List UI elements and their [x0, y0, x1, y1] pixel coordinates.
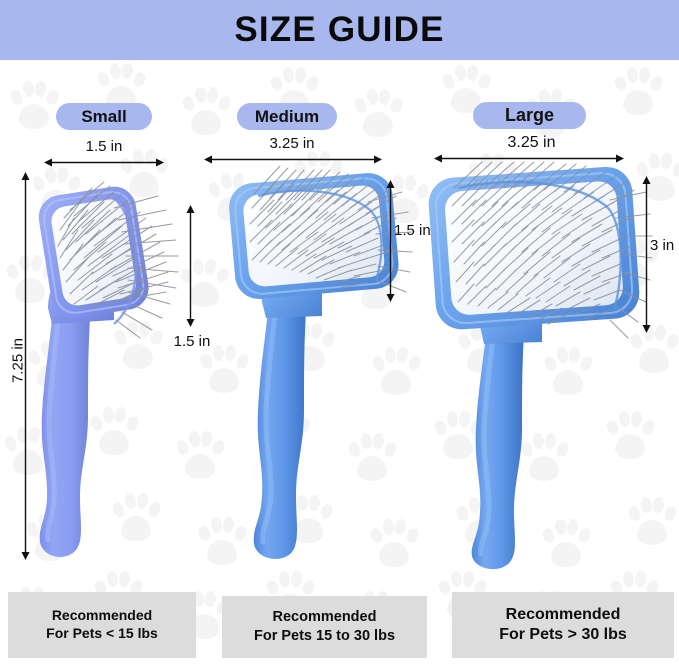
recommendation-box-medium: Recommended For Pets 15 to 30 lbs — [222, 596, 427, 658]
recommendation-line-1: Recommended — [273, 608, 377, 627]
width-label-small: 1.5 in — [48, 138, 160, 155]
recommendation-line-2: For Pets > 30 lbs — [499, 625, 627, 645]
head-height-label-small: 1.5 in — [160, 333, 224, 350]
recommendation-line-1: Recommended — [52, 607, 152, 625]
head-height-label-large: 3 in — [650, 237, 679, 254]
recommendation-line-2: For Pets 15 to 30 lbs — [254, 627, 395, 646]
recommendation-line-1: Recommended — [506, 605, 621, 625]
page-title: SIZE GUIDE — [234, 10, 444, 50]
width-arrow-large — [434, 153, 624, 164]
header-bar: SIZE GUIDE — [0, 0, 679, 60]
recommendation-box-large: Recommended For Pets > 30 lbs — [452, 592, 674, 658]
size-badge-small: Small — [56, 103, 152, 130]
head-height-arrow-small — [185, 205, 196, 327]
head-height-arrow-medium — [385, 180, 396, 302]
width-label-medium: 3.25 in — [219, 135, 365, 152]
size-badge-large: Large — [473, 102, 586, 129]
overall-height-label: 7.25 in — [10, 321, 27, 401]
head-height-label-medium: 1.5 in — [394, 222, 452, 239]
head-height-arrow-large — [641, 176, 652, 333]
recommendation-line-2: For Pets < 15 lbs — [46, 625, 158, 643]
large-slicker-brush — [424, 160, 654, 572]
width-arrow-medium — [204, 154, 382, 165]
size-badge-medium: Medium — [237, 103, 337, 130]
small-slicker-brush — [18, 168, 208, 568]
size-guide-image: SIZE GUIDE — [0, 0, 679, 665]
recommendation-box-small: Recommended For Pets < 15 lbs — [8, 592, 196, 658]
width-label-large: 3.25 in — [455, 134, 608, 152]
width-arrow-small — [44, 157, 164, 168]
